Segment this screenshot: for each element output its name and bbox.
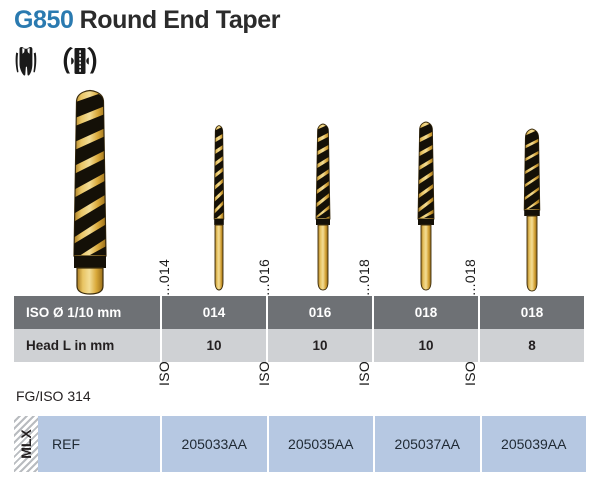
spec-cell: 014: [162, 296, 268, 329]
spec-cell: 10: [268, 329, 374, 362]
bur-illustration-4: [516, 125, 548, 293]
product-spec-sheet: G850Round End Taper: [0, 0, 600, 486]
magnified-bur-illustration: [60, 80, 120, 295]
product-name: Round End Taper: [80, 6, 280, 34]
ref-cell: 205039AA: [482, 416, 587, 472]
spec-cell: 016: [268, 296, 374, 329]
bur-illustration-3: [410, 118, 442, 292]
spec-cell: 8: [480, 329, 586, 362]
spec-cell: 10: [374, 329, 480, 362]
brand-label: MLX: [18, 429, 34, 459]
bur-illustration-2: [308, 120, 338, 292]
bur-illustrations: ISO 806...199...014: [0, 80, 600, 295]
ref-row-label: REF: [38, 416, 162, 472]
ref-cell: 205037AA: [375, 416, 482, 472]
bur-illustration-1: [206, 122, 232, 292]
tooth-crown-preparation-icon: [10, 44, 44, 78]
brand-tab-mlx: MLX: [14, 416, 38, 472]
product-code: G850: [14, 6, 74, 34]
spec-row-label: ISO Ø 1/10 mm: [14, 296, 162, 329]
spec-row-head-length: Head L in mm 10 10 10 8: [14, 329, 586, 362]
spec-table: ISO Ø 1/10 mm 014 016 018 018 Head L in …: [14, 296, 586, 362]
ref-cell: 205033AA: [162, 416, 269, 472]
spec-cell: 018: [374, 296, 480, 329]
shank-type-label: FG/ISO 314: [16, 388, 91, 404]
crown-sectioning-icon: [58, 44, 102, 78]
spec-cell: 10: [162, 329, 268, 362]
ref-table: MLX REF 205033AA 205035AA 205037AA 20503…: [14, 416, 586, 472]
spec-cell: 018: [480, 296, 586, 329]
ref-cell: 205035AA: [269, 416, 376, 472]
spec-row-label: Head L in mm: [14, 329, 162, 362]
spec-row-iso-diameter: ISO Ø 1/10 mm 014 016 018 018: [14, 296, 586, 329]
page-title: G850Round End Taper: [14, 6, 280, 35]
indication-pictograms: [10, 44, 102, 78]
